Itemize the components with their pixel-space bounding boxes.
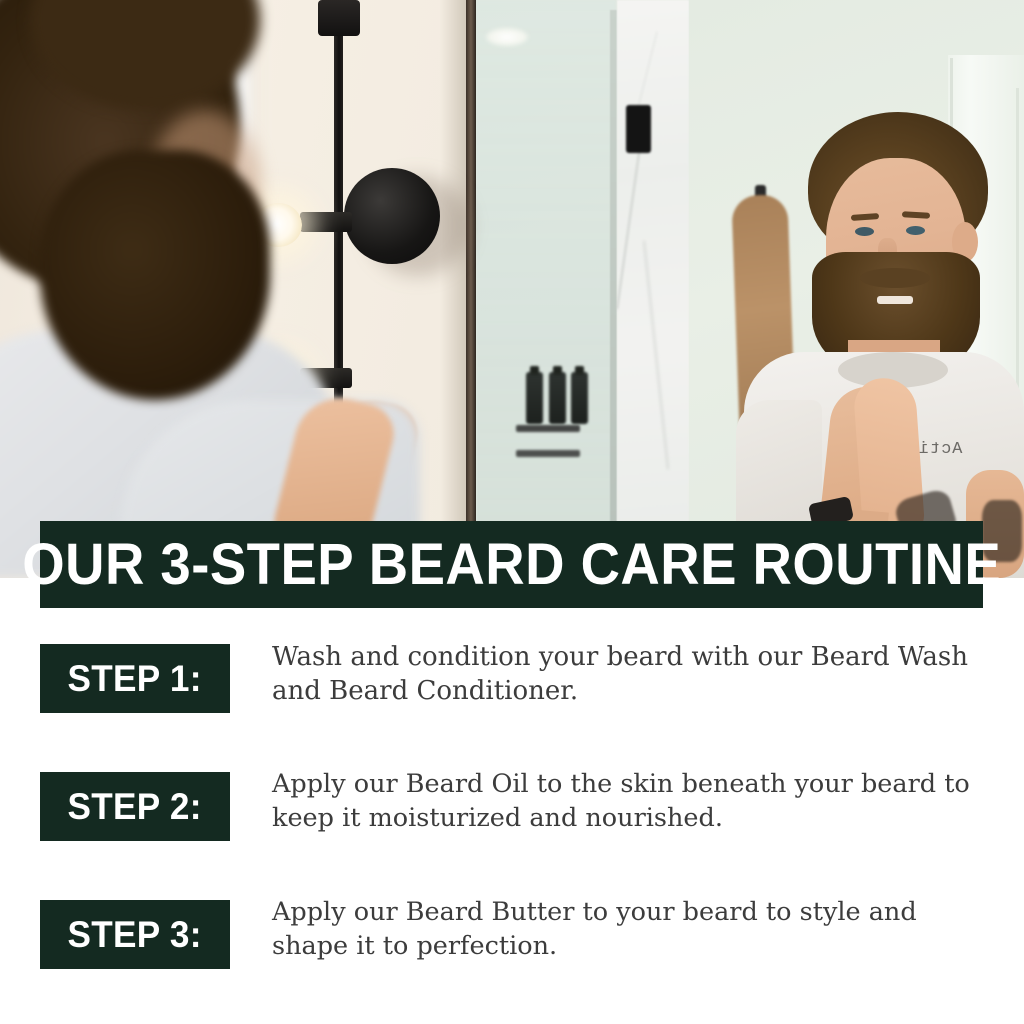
step-badge-2: STEP 2: xyxy=(40,772,230,841)
shower-frame xyxy=(610,10,617,570)
step-description-1: Wash and condition your beard with our B… xyxy=(272,640,984,709)
product-bottle xyxy=(549,372,566,424)
reflection-eye xyxy=(855,227,874,236)
step-badge-label: STEP 1: xyxy=(68,660,202,697)
step-badge-label: STEP 3: xyxy=(68,916,202,953)
step-description-2: Apply our Beard Oil to the skin beneath … xyxy=(272,768,984,835)
step-row: STEP 3: Apply our Beard Butter to your b… xyxy=(0,896,1024,969)
bottle-cap xyxy=(575,366,584,375)
headline-banner: OUR 3-STEP BEARD CARE ROUTINE xyxy=(40,521,983,608)
shower-shelf xyxy=(516,425,580,432)
bottle-cap xyxy=(530,366,539,375)
promo-graphic: Actions OUR 3-STEP BEARD CARE ROUTINE xyxy=(0,0,1024,1024)
reflection-moustache xyxy=(860,268,930,288)
shower-shelf xyxy=(516,450,580,457)
step-description-3: Apply our Beard Butter to your beard to … xyxy=(272,896,984,963)
sconce-socket-top xyxy=(318,0,360,36)
marble-column xyxy=(617,0,689,578)
reflection-smile xyxy=(877,296,913,304)
sconce-arm xyxy=(300,212,352,232)
step-row: STEP 2: Apply our Beard Oil to the skin … xyxy=(0,768,1024,841)
bottle-cap xyxy=(553,366,562,375)
step-badge-3: STEP 3: xyxy=(40,900,230,969)
shower-glass-panel xyxy=(476,0,616,578)
mirror-frame-edge xyxy=(466,0,476,578)
step-row: STEP 1: Wash and condition your beard wi… xyxy=(0,640,1024,713)
sconce-backplate xyxy=(344,168,440,264)
recessed-ceiling-light xyxy=(486,28,528,46)
foreground-beard xyxy=(40,150,270,400)
step-badge-label: STEP 2: xyxy=(68,788,202,825)
product-bottle xyxy=(571,372,588,424)
reflection-eye xyxy=(906,226,925,235)
step-badge-1: STEP 1: xyxy=(40,644,230,713)
hero-photo: Actions xyxy=(0,0,1024,578)
steps-list: STEP 1: Wash and condition your beard wi… xyxy=(0,640,1024,1024)
mirror-bezel xyxy=(440,0,468,578)
product-bottle xyxy=(526,372,543,424)
shower-valve xyxy=(626,105,651,153)
page-title: OUR 3-STEP BEARD CARE ROUTINE xyxy=(22,536,1001,594)
